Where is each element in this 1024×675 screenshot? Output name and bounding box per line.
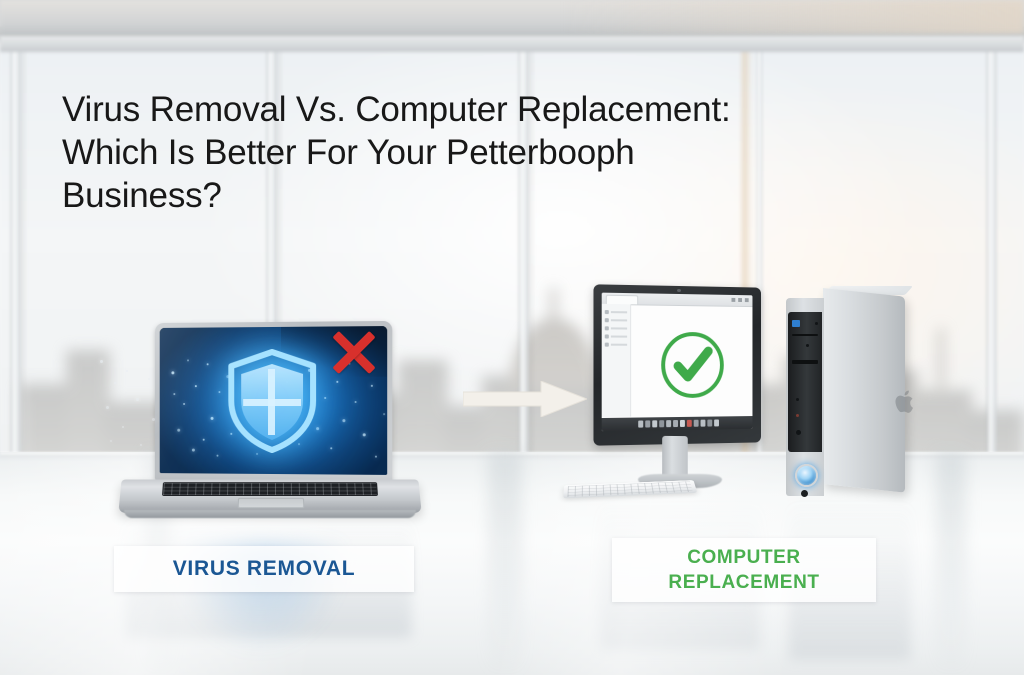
monitor-screen: [602, 293, 753, 432]
computer-tower: [786, 288, 914, 500]
desk-streak: [936, 452, 966, 675]
laptop-base: [118, 479, 421, 512]
usb-port[interactable]: [796, 398, 799, 401]
tower-brand-badge: [792, 320, 800, 327]
taskbar-dock: [602, 416, 753, 431]
apple-logo-icon: [895, 388, 917, 416]
laptop-base-front: [124, 510, 416, 518]
headphone-jack[interactable]: [796, 430, 801, 435]
label-computer-replacement: COMPUTER REPLACEMENT: [612, 538, 876, 602]
sidebar-row: [602, 316, 630, 324]
desktop-monitor: [594, 286, 774, 501]
optical-drive-slot: [792, 334, 818, 336]
monitor-bezel: [593, 284, 760, 445]
sidebar-row: [602, 341, 630, 349]
sidebar-row: [602, 324, 630, 332]
window-header-beam: [0, 36, 1024, 52]
window-mullion: [10, 44, 21, 514]
front-port[interactable]: [801, 490, 808, 497]
poster-canvas: Virus Removal Vs. Computer Replacement: …: [0, 0, 1024, 675]
label-computer-replacement-line2: REPLACEMENT: [668, 570, 819, 595]
laptop-trackpad: [238, 498, 305, 508]
label-virus-removal-text: VIRUS REMOVAL: [173, 557, 356, 581]
window-controls: [731, 298, 748, 302]
green-check-icon: [658, 330, 726, 400]
ceiling-warm-tint: [560, 0, 1024, 34]
audio-port[interactable]: [796, 414, 799, 417]
tower-front-face: [786, 298, 824, 496]
optical-drive-eject-button[interactable]: [815, 322, 818, 325]
label-virus-removal: VIRUS REMOVAL: [114, 546, 414, 592]
drive-bay-slot: [792, 360, 818, 364]
label-computer-replacement-line1: COMPUTER: [687, 545, 801, 570]
sidebar-row: [602, 332, 630, 340]
laptop-keyboard: [162, 482, 378, 496]
app-sidebar: [602, 304, 631, 417]
tower-front-panel: [788, 312, 822, 452]
laptop-keyboard-keys: [163, 483, 377, 495]
tower-side-panel: [823, 288, 905, 493]
window-mullion: [986, 44, 997, 514]
right-arrow-icon: [463, 381, 587, 417]
desk-streak: [488, 452, 522, 675]
monitor-stand-neck: [662, 436, 688, 478]
status-led: [806, 344, 809, 347]
page-title: Virus Removal Vs. Computer Replacement: …: [62, 88, 742, 217]
red-x-icon: [326, 326, 380, 378]
window-mullion-shade: [21, 44, 26, 514]
power-button[interactable]: [795, 464, 818, 487]
browser-tab: [606, 295, 638, 305]
webcam-icon: [677, 289, 681, 292]
